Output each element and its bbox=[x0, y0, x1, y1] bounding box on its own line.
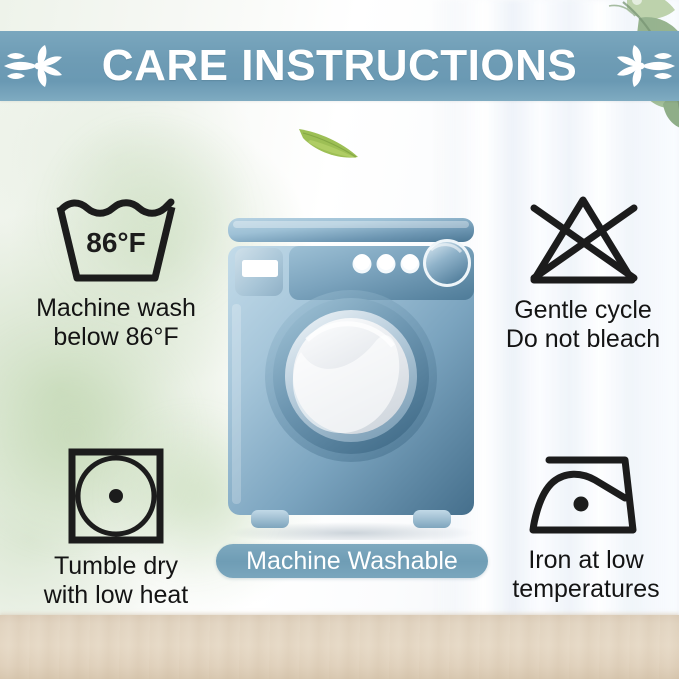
badge-label: Machine Washable bbox=[246, 549, 458, 574]
care-item-caption: Tumble dry with low heat bbox=[44, 552, 189, 610]
program-dial-knob[interactable] bbox=[423, 239, 471, 287]
wash-temperature-text: 86°F bbox=[86, 227, 145, 258]
fleur-de-lis-icon bbox=[2, 43, 76, 89]
porthole-door[interactable] bbox=[265, 290, 437, 462]
caption-line-1: Tumble dry bbox=[44, 552, 189, 581]
care-item-gentle-cycle-no-bleach: Gentle cycle Do not bleach bbox=[487, 192, 679, 354]
care-instructions-infographic: CARE INSTRUCTIONS 86°F Machine wash belo… bbox=[0, 0, 679, 679]
care-item-machine-wash: 86°F Machine wash below 86°F bbox=[8, 196, 224, 352]
caption-line-2: Do not bleach bbox=[506, 325, 660, 354]
care-item-caption: Machine wash below 86°F bbox=[36, 294, 196, 352]
caption-line-1: Iron at low bbox=[512, 546, 659, 575]
do-not-bleach-triangle-icon bbox=[524, 192, 642, 290]
wooden-table-surface bbox=[0, 615, 679, 679]
caption-line-2: below 86°F bbox=[36, 323, 196, 352]
machine-foot bbox=[251, 510, 289, 528]
care-item-caption: Gentle cycle Do not bleach bbox=[506, 296, 660, 354]
care-item-caption: Iron at low temperatures bbox=[512, 546, 659, 604]
machine-foot bbox=[413, 510, 451, 528]
display-screen bbox=[242, 260, 278, 277]
care-item-iron-low: Iron at low temperatures bbox=[492, 452, 679, 604]
header-banner: CARE INSTRUCTIONS bbox=[0, 31, 679, 101]
wash-tub-icon: 86°F bbox=[53, 196, 179, 288]
washing-machine-illustration bbox=[215, 200, 487, 540]
caption-line-2: temperatures bbox=[512, 575, 659, 604]
machine-washable-badge: Machine Washable bbox=[216, 544, 488, 578]
page-title: CARE INSTRUCTIONS bbox=[102, 44, 577, 88]
fleur-de-lis-icon bbox=[603, 43, 677, 89]
caption-line-1: Gentle cycle bbox=[506, 296, 660, 325]
floating-leaf-icon bbox=[296, 122, 362, 162]
caption-line-2: with low heat bbox=[44, 581, 189, 610]
caption-line-1: Machine wash bbox=[36, 294, 196, 323]
iron-low-heat-icon bbox=[525, 452, 647, 540]
tumble-dry-low-icon bbox=[66, 446, 166, 546]
care-item-tumble-dry: Tumble dry with low heat bbox=[16, 446, 216, 610]
